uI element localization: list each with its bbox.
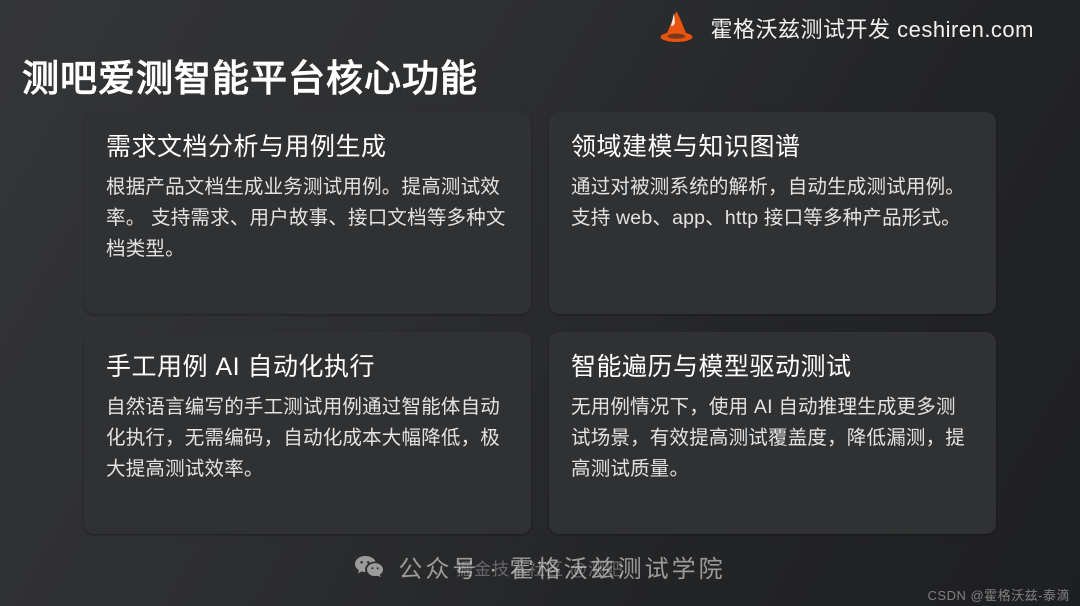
witch-hat-icon (655, 8, 699, 48)
feature-card-body: 通过对被测系统的解析，自动生成测试用例。 支持 web、app、http 接口等… (571, 172, 974, 234)
feature-card-body: 无用例情况下，使用 AI 自动推理生成更多测试场景，有效提高测试覆盖度，降低漏测… (571, 392, 974, 484)
footer: 公众号 · 霍格沃兹测试学院 (0, 549, 1080, 584)
page-title: 测吧爱测智能平台核心功能 (22, 48, 478, 102)
brand-text: 霍格沃兹测试开发 ceshiren.com (711, 12, 1034, 44)
feature-card-title: 手工用例 AI 自动化执行 (106, 352, 509, 382)
brand-header: 霍格沃兹测试开发 ceshiren.com (655, 8, 1034, 48)
slide-root: 霍格沃兹测试开发 ceshiren.com 测吧爱测智能平台核心功能 需求文档分… (0, 0, 1080, 606)
wechat-icon (354, 554, 384, 580)
feature-card-title: 需求文档分析与用例生成 (106, 132, 509, 162)
feature-card: 需求文档分析与用例生成 根据产品文档生成业务测试用例。提高测试效率。 支持需求、… (84, 112, 531, 314)
feature-card-title: 智能遍历与模型驱动测试 (571, 352, 974, 382)
feature-card: 手工用例 AI 自动化执行 自然语言编写的手工测试用例通过智能体自动化执行，无需… (84, 332, 531, 534)
footer-text: 公众号 · 霍格沃兹测试学院 (398, 549, 725, 584)
feature-card-grid: 需求文档分析与用例生成 根据产品文档生成业务测试用例。提高测试效率。 支持需求、… (84, 112, 996, 534)
watermark-bottom-right: CSDN @霍格沃兹-泰滴 (928, 585, 1070, 604)
feature-card-body: 自然语言编写的手工测试用例通过智能体自动化执行，无需编码，自动化成本大幅降低，极… (106, 392, 509, 484)
feature-card-title: 领域建模与知识图谱 (571, 132, 974, 162)
feature-card-body: 根据产品文档生成业务测试用例。提高测试效率。 支持需求、用户故事、接口文档等多种… (106, 172, 509, 264)
feature-card: 领域建模与知识图谱 通过对被测系统的解析，自动生成测试用例。 支持 web、ap… (549, 112, 996, 314)
feature-card: 智能遍历与模型驱动测试 无用例情况下，使用 AI 自动推理生成更多测试场景，有效… (549, 332, 996, 534)
